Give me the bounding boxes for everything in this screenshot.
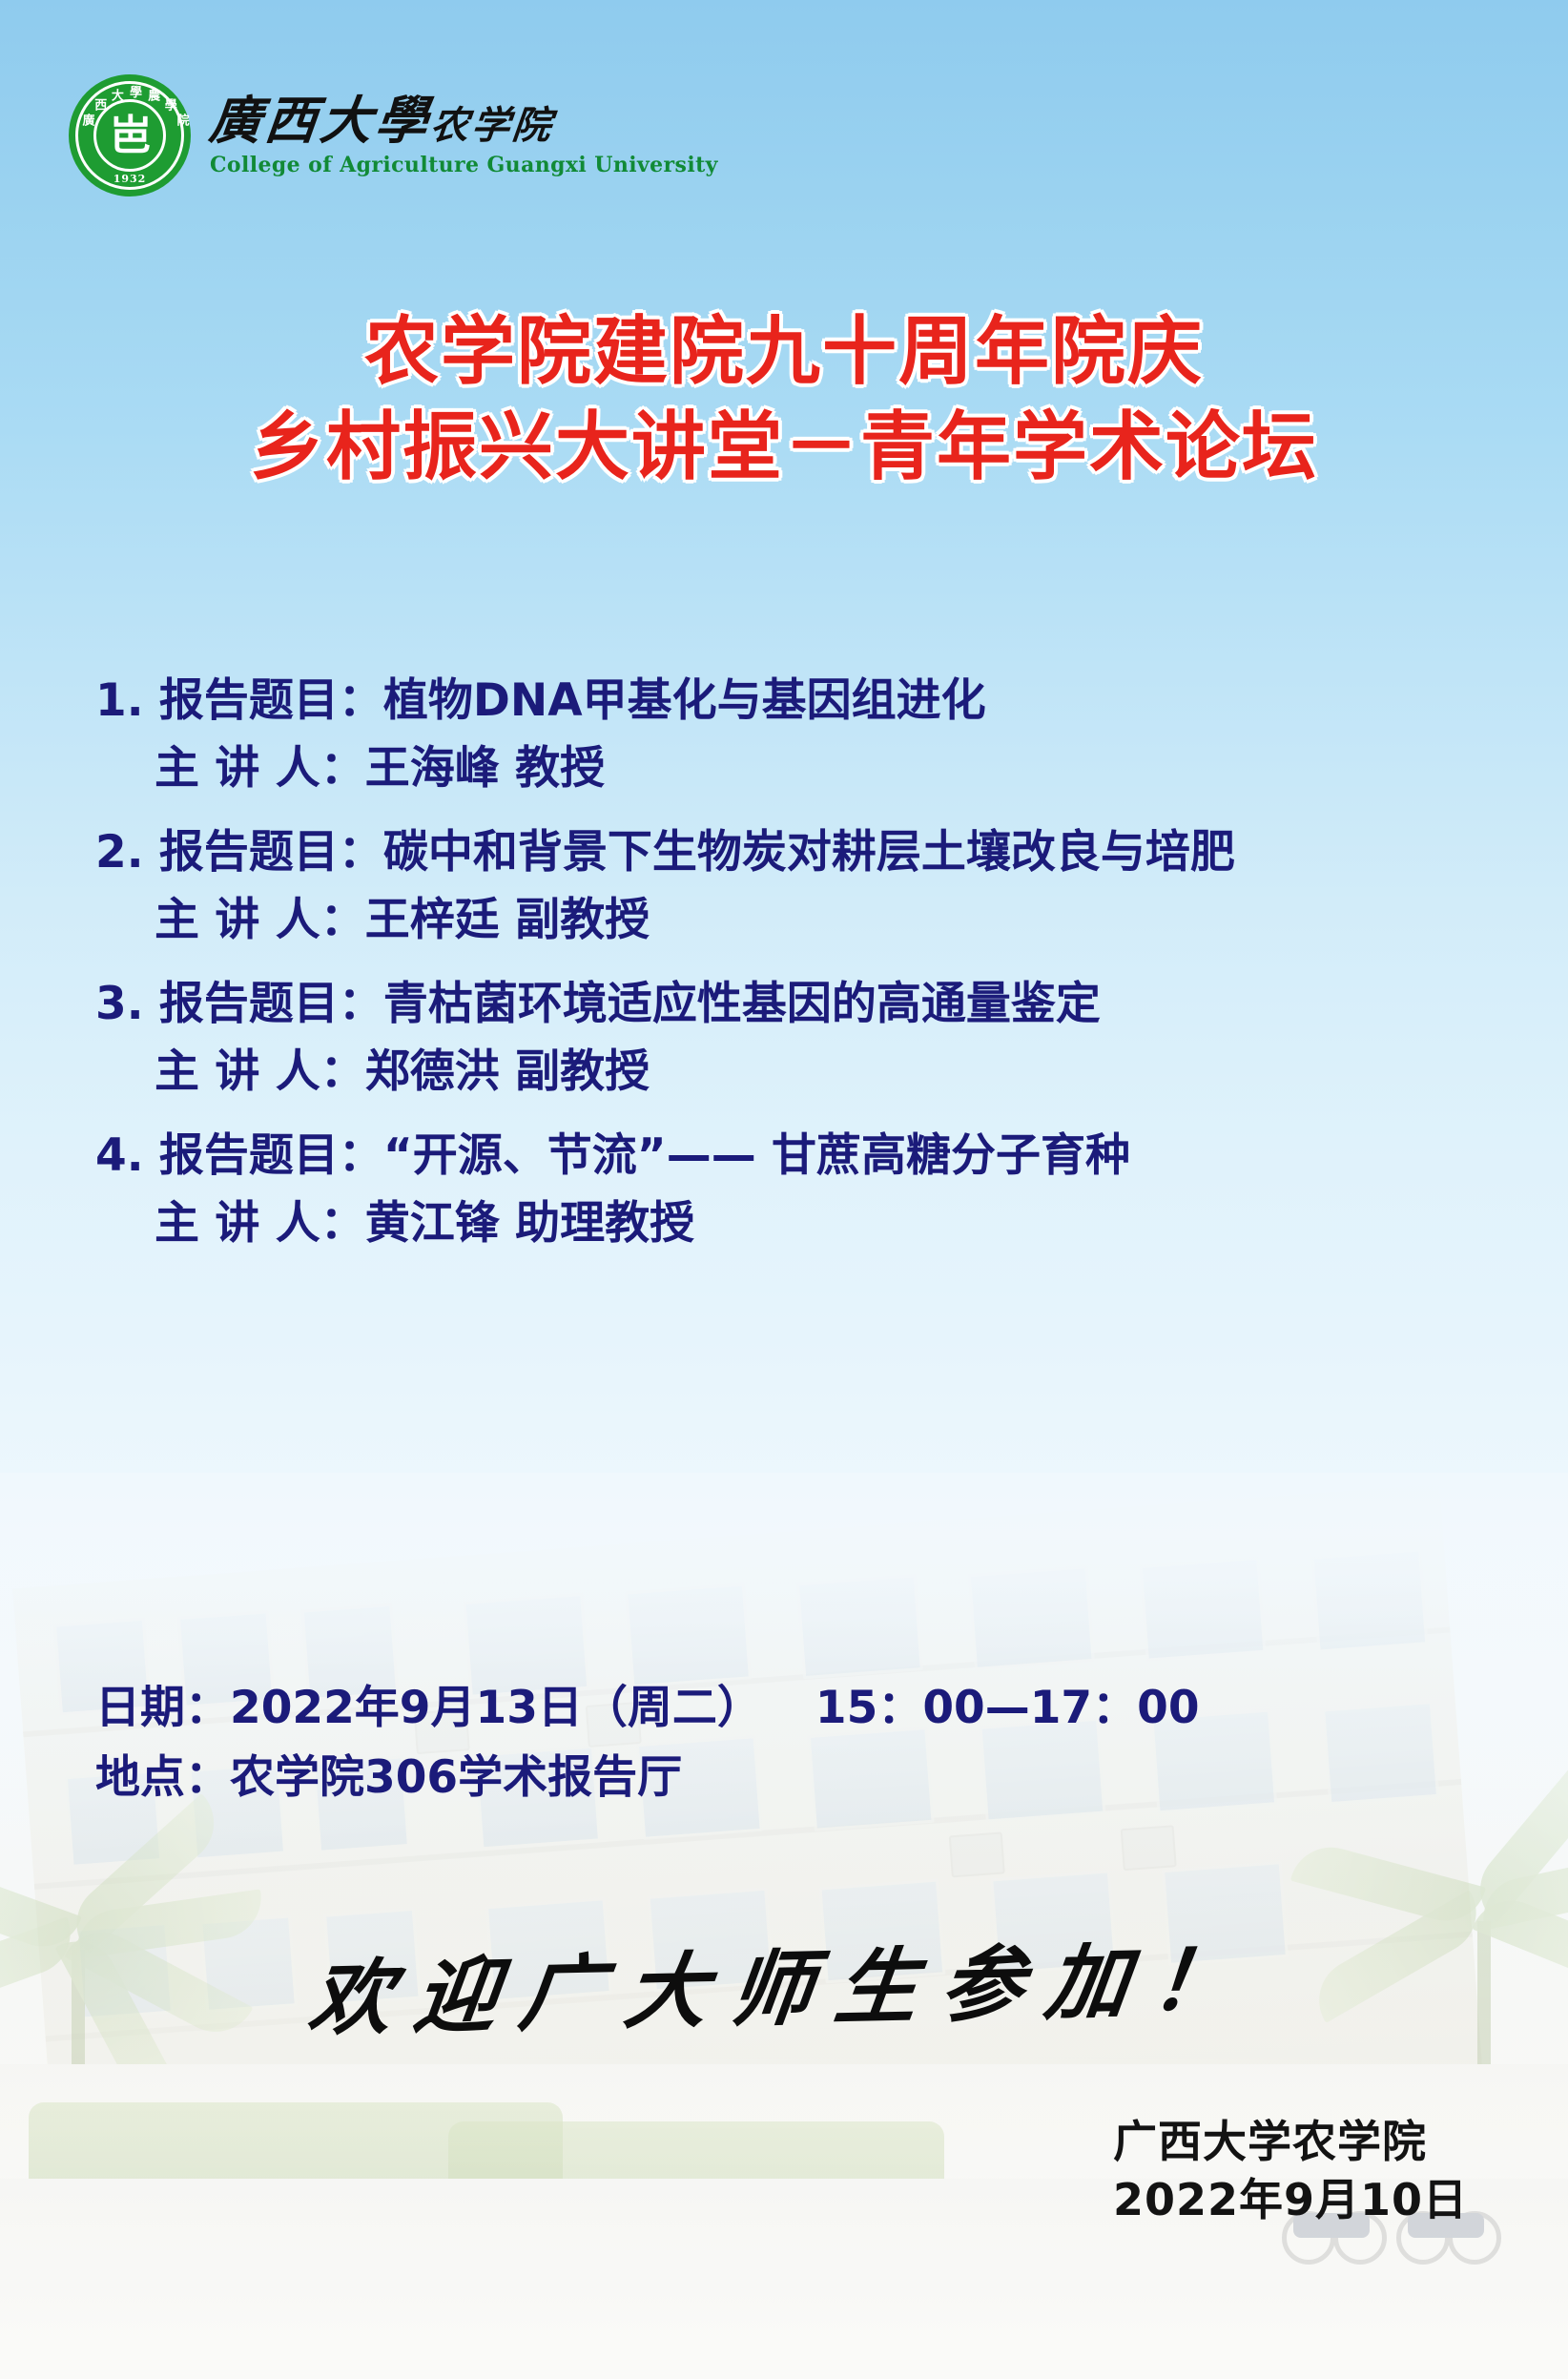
seal-year: 1932	[69, 173, 191, 185]
talk-speaker: 主 讲 人：王梓廷 副教授	[155, 887, 1511, 955]
wordmark-chinese: 廣西大學农学院	[207, 93, 721, 148]
welcome-banner: 欢迎广大师生参加！	[0, 1922, 1568, 2041]
program-list: 1. 报告题目：植物DNA甲基化与基因组进化 主 讲 人：王海峰 教授 2. 报…	[95, 668, 1511, 1274]
program-item: 4. 报告题目：“开源、节流”—— 甘蔗高糖分子育种 主 讲 人：黄江锋 助理教…	[95, 1123, 1511, 1257]
talk-title: 1. 报告题目：植物DNA甲基化与基因组进化	[95, 668, 1511, 735]
event-details: 日期：2022年9月13日（周二）15：00—17：00 地点：农学院306学术…	[95, 1674, 1511, 1813]
event-date: 日期：2022年9月13日（周二）	[95, 1682, 762, 1734]
event-date-line: 日期：2022年9月13日（周二）15：00—17：00	[95, 1674, 1511, 1744]
wordmark-english: College of Agriculture Guangxi Universit…	[210, 153, 718, 177]
title-line-2: 乡村振兴大讲堂－青年学术论坛	[0, 401, 1568, 496]
talk-title: 4. 报告题目：“开源、节流”—— 甘蔗高糖分子育种	[95, 1123, 1511, 1190]
signature-block: 广西大学农学院 2022年9月10日	[1113, 2113, 1468, 2228]
talk-title: 2. 报告题目：碳中和背景下生物炭对耕层土壤改良与培肥	[95, 819, 1511, 887]
program-item: 1. 报告题目：植物DNA甲基化与基因组进化 主 讲 人：王海峰 教授	[95, 668, 1511, 802]
poster-title: 农学院建院九十周年院庆 乡村振兴大讲堂－青年学术论坛	[0, 305, 1568, 496]
talk-speaker: 主 讲 人：黄江锋 助理教授	[155, 1190, 1511, 1258]
signature-org: 广西大学农学院	[1113, 2113, 1468, 2171]
event-time: 15：00—17：00	[815, 1682, 1200, 1734]
wordmark-college: 农学院	[428, 103, 556, 148]
program-item: 2. 报告题目：碳中和背景下生物炭对耕层土壤改良与培肥 主 讲 人：王梓廷 副教…	[95, 819, 1511, 954]
program-item: 3. 报告题目：青枯菌环境适应性基因的高通量鉴定 主 讲 人：郑德洪 副教授	[95, 971, 1511, 1106]
university-seal-icon: 廣 西 大 學 農 學 院 岜 1932	[69, 74, 191, 197]
talk-speaker: 主 讲 人：王海峰 教授	[155, 735, 1511, 803]
brand-header: 廣 西 大 學 農 學 院 岜 1932 廣西大學农学院 College of …	[69, 74, 718, 197]
welcome-text: 欢迎广大师生参加！	[303, 1913, 1265, 2052]
poster-canvas: 廣 西 大 學 農 學 院 岜 1932 廣西大學农学院 College of …	[0, 0, 1568, 2379]
talk-title: 3. 报告题目：青枯菌环境适应性基因的高通量鉴定	[95, 971, 1511, 1039]
wordmark-university: 廣西大學	[207, 90, 435, 151]
talk-speaker: 主 讲 人：郑德洪 副教授	[155, 1039, 1511, 1107]
title-line-1: 农学院建院九十周年院庆	[0, 305, 1568, 401]
event-location: 地点：农学院306学术报告厅	[95, 1744, 1511, 1813]
seal-center-glyph: 岜	[69, 115, 191, 157]
brand-wordmark: 廣西大學农学院 College of Agriculture Guangxi U…	[210, 93, 718, 178]
signature-date: 2022年9月10日	[1113, 2171, 1468, 2229]
